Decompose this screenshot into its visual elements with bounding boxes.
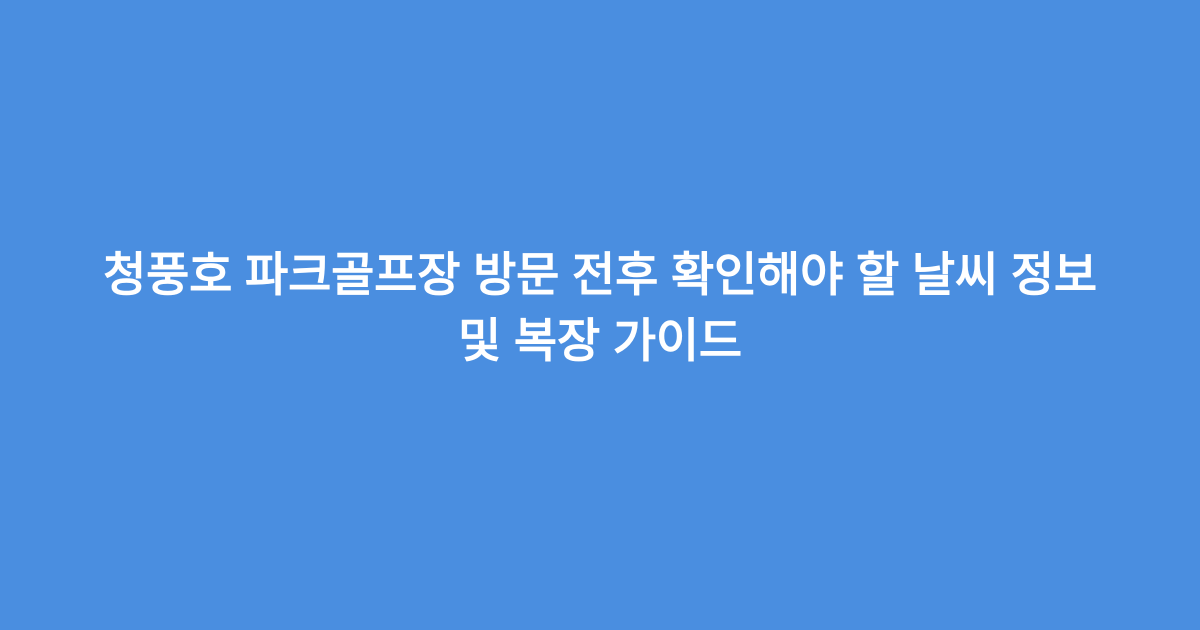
og-title-card: 청풍호 파크골프장 방문 전후 확인해야 할 날씨 정보 및 복장 가이드 <box>0 0 1200 630</box>
page-title: 청풍호 파크골프장 방문 전후 확인해야 할 날씨 정보 및 복장 가이드 <box>100 242 1100 374</box>
title-block: 청풍호 파크골프장 방문 전후 확인해야 할 날씨 정보 및 복장 가이드 <box>100 242 1100 388</box>
